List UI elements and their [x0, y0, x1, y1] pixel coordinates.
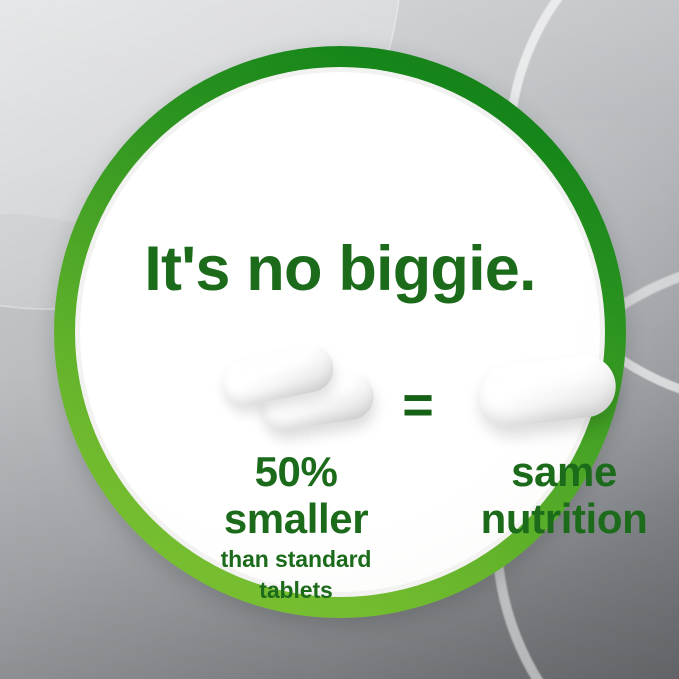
- product-graphic-canvas: It's no biggie. = 50% smaller than stand…: [0, 0, 679, 679]
- large-tablet-icon: [476, 352, 620, 430]
- badge-content: It's no biggie. = 50% smaller than stand…: [80, 72, 600, 592]
- left-caption-line2: smaller: [184, 495, 408, 542]
- left-caption-line4: tablets: [184, 577, 408, 604]
- left-caption-line1: 50%: [184, 448, 408, 495]
- right-caption-line2: nutrition: [452, 495, 676, 542]
- tablet-comparison-row: =: [80, 340, 600, 452]
- green-ring: It's no biggie. = 50% smaller than stand…: [54, 46, 626, 618]
- left-caption-line3: than standard: [184, 546, 408, 573]
- equals-sign: =: [395, 378, 441, 432]
- left-caption-block: 50% smaller than standard tablets: [184, 448, 408, 603]
- right-caption-block: same nutrition: [452, 448, 676, 542]
- white-disc: It's no biggie. = 50% smaller than stand…: [80, 72, 600, 592]
- right-caption-line1: same: [452, 448, 676, 495]
- headline: It's no biggie.: [80, 238, 600, 301]
